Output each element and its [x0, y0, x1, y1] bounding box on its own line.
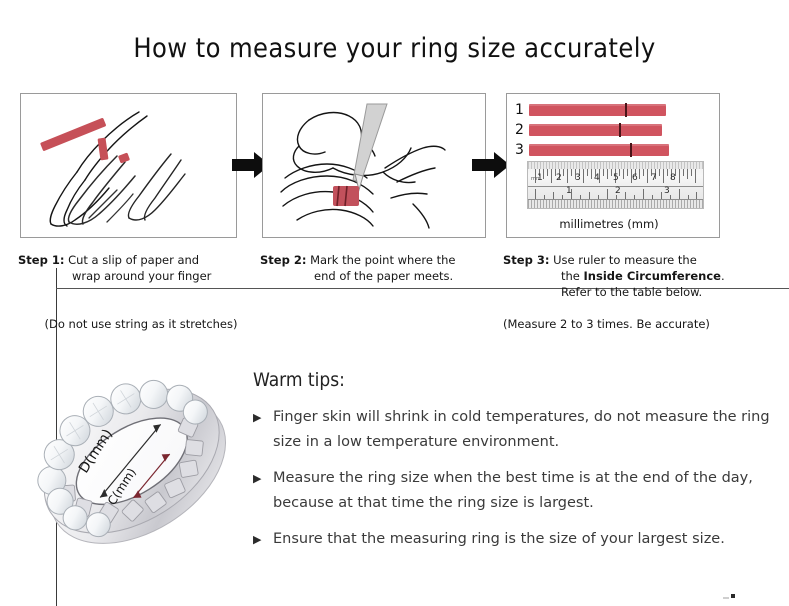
bullet-triangle-icon-2: ▶ — [253, 466, 261, 491]
strip-mark-2 — [619, 123, 621, 137]
step-1-illustration-panel — [20, 93, 237, 238]
step-3-illustration-panel: 1 2 3 — [506, 93, 720, 238]
ruler-top-edge — [528, 162, 703, 169]
warm-tip-item-1: ▶ Finger skin will shrink in cold temper… — [253, 405, 773, 455]
warm-tip-item-3: ▶ Ensure that the measuring ring is the … — [253, 527, 773, 552]
step-1-line-1: Cut a slip of paper and — [68, 253, 199, 267]
paper-strip-bar-2 — [529, 124, 662, 136]
paper-strip-row-2: 2 — [515, 124, 662, 136]
bullet-triangle-icon-3: ▶ — [253, 527, 261, 552]
paper-strip-wrap — [98, 138, 109, 161]
strip-mark-3 — [630, 143, 632, 157]
step-1-label: Step 1: — [18, 253, 64, 267]
marked-paper-strip — [333, 186, 359, 206]
bullet-triangle-icon-1: ▶ — [253, 405, 261, 430]
warm-tip-item-2: ▶ Measure the ring size when the best ti… — [253, 466, 773, 516]
scan-artifact-speck — [731, 594, 735, 598]
paper-strip-row-3: 3 — [515, 144, 669, 156]
inch-label-1: 1 — [566, 184, 572, 198]
paper-strip-bar-3 — [529, 144, 669, 156]
ruler-graphic: 1 2 3 4 5 6 7 8 mm 1 2 — [527, 161, 704, 209]
step-3-line-2: the Inside Circumference. — [503, 268, 753, 284]
strip-mark-1 — [625, 103, 627, 117]
strip-number-3: 3 — [515, 144, 529, 156]
step-1-note: (Do not use string as it stretches) — [26, 317, 256, 331]
step-3-caption: Step 3: Use ruler to measure the the Ins… — [503, 252, 753, 300]
step-2-illustration-panel — [262, 93, 486, 238]
inch-label-3: 3 — [664, 184, 670, 198]
step-2-line-1: Mark the point where the — [310, 253, 455, 267]
step-3-line-1: Use ruler to measure the — [553, 253, 697, 267]
step-2-caption: Step 2: Mark the point where the end of … — [260, 252, 495, 284]
warm-tip-text-1: Finger skin will shrink in cold temperat… — [273, 409, 770, 450]
inside-circumference-emphasis: Inside Circumference — [584, 269, 721, 283]
ring-size-guide-page: How to measure your ring size accurately — [0, 0, 789, 606]
step-1-caption: Step 1: Cut a slip of paper and wrap aro… — [18, 252, 253, 284]
arrow-right-icon-2 — [472, 152, 510, 178]
step-3-line-3: Refer to the table below. — [503, 284, 753, 300]
ruler-inch-labels: 1 2 3 — [528, 184, 703, 198]
warm-tips-heading: Warm tips: — [253, 369, 345, 391]
step-3-note: (Measure 2 to 3 times. Be accurate) — [503, 317, 753, 331]
paper-strip-row-1: 1 — [515, 104, 666, 116]
pen — [353, 104, 387, 190]
hand-with-paper-strip-icon — [21, 94, 234, 235]
step-3-label: Step 3: — [503, 253, 549, 267]
ruler-caption: millimetres (mm) — [507, 217, 711, 231]
inch-label-2: 2 — [615, 184, 621, 198]
step-3-line-2-text: the — [561, 269, 584, 283]
step-1-line-2: wrap around your finger — [18, 268, 253, 284]
warm-tip-text-2: Measure the ring size when the best time… — [273, 470, 753, 511]
strip-number-2: 2 — [515, 124, 529, 136]
scan-artifact-smudge — [723, 597, 729, 599]
ring-diagram: D(mm) C(mm) — [22, 356, 250, 581]
step-2-line-2: end of the paper meets. — [260, 268, 495, 284]
step-3-line-2-tail: . — [721, 269, 725, 283]
warm-tips-list: ▶ Finger skin will shrink in cold temper… — [253, 405, 773, 563]
eternity-ring-illustration-icon: D(mm) C(mm) — [22, 356, 250, 581]
step-2-label: Step 2: — [260, 253, 306, 267]
page-title: How to measure your ring size accurately — [0, 33, 789, 64]
hands-marking-paper-icon — [263, 94, 483, 235]
paper-strip-bar-1 — [529, 104, 666, 116]
strip-number-1: 1 — [515, 104, 529, 116]
ruler-bottom-edge — [528, 200, 703, 208]
paper-strip-end — [118, 153, 130, 164]
ruler-unit-tag: mm — [531, 176, 541, 182]
warm-tip-text-3: Ensure that the measuring ring is the si… — [273, 531, 725, 547]
